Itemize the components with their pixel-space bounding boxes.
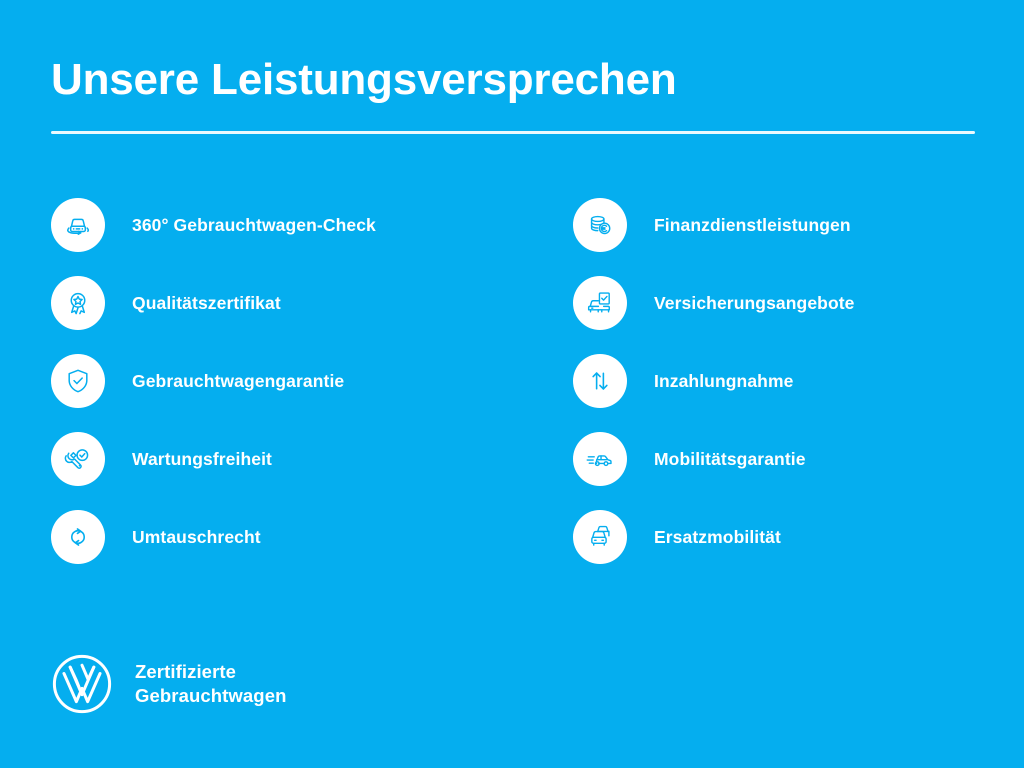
- benefit-label: Gebrauchtwagengarantie: [132, 370, 344, 392]
- benefit-item-quality-certificate[interactable]: Qualitätszertifikat: [51, 276, 521, 330]
- benefit-label: Finanzdienstleistungen: [654, 214, 851, 236]
- header: Unsere Leistungsversprechen: [51, 52, 981, 108]
- benefit-item-maintenance-free[interactable]: Wartungsfreiheit: [51, 432, 521, 486]
- benefit-item-financial-services[interactable]: Finanzdienstleistungen: [573, 198, 1003, 252]
- page-title: Unsere Leistungsversprechen: [51, 52, 981, 108]
- volkswagen-logo: [51, 653, 113, 715]
- benefit-item-insurance[interactable]: Versicherungsangebote: [573, 276, 1003, 330]
- benefit-label: Versicherungsangebote: [654, 292, 855, 314]
- brand-text-line2: Gebrauchtwagen: [135, 684, 287, 708]
- shield-check-icon: [51, 354, 105, 408]
- brand-lockup: Zertifizierte Gebrauchtwagen: [51, 653, 287, 715]
- coins-euro-icon: [573, 198, 627, 252]
- award-rosette-icon: [51, 276, 105, 330]
- benefit-item-replacement-mobility[interactable]: Ersatzmobilität: [573, 510, 1003, 564]
- title-divider: [51, 131, 975, 134]
- brand-text-line1: Zertifizierte: [135, 660, 287, 684]
- brand-text: Zertifizierte Gebrauchtwagen: [135, 660, 287, 708]
- benefit-label: Wartungsfreiheit: [132, 448, 272, 470]
- benefits-left-column: 360° Gebrauchtwagen-Check Qualitätszerti…: [51, 198, 521, 588]
- wrench-check-icon: [51, 432, 105, 486]
- car-document-check-icon: [573, 276, 627, 330]
- benefit-item-exchange-right[interactable]: Umtauschrecht: [51, 510, 521, 564]
- car-speed-icon: [573, 432, 627, 486]
- benefit-label: Ersatzmobilität: [654, 526, 781, 548]
- benefit-item-trade-in[interactable]: Inzahlungnahme: [573, 354, 1003, 408]
- up-down-arrows-icon: [573, 354, 627, 408]
- benefit-label: Inzahlungnahme: [654, 370, 793, 392]
- benefit-item-mobility-guarantee[interactable]: Mobilitätsgarantie: [573, 432, 1003, 486]
- benefit-label: 360° Gebrauchtwagen-Check: [132, 214, 376, 236]
- car-360-check-icon: [51, 198, 105, 252]
- benefit-item-warranty[interactable]: Gebrauchtwagengarantie: [51, 354, 521, 408]
- benefits-right-column: Finanzdienstleistungen: [573, 198, 1003, 588]
- two-cars-icon: [573, 510, 627, 564]
- benefit-label: Mobilitätsgarantie: [654, 448, 806, 470]
- benefit-label: Umtauschrecht: [132, 526, 261, 548]
- benefit-label: Qualitätszertifikat: [132, 292, 281, 314]
- benefits-grid: 360° Gebrauchtwagen-Check Qualitätszerti…: [0, 198, 1024, 588]
- promise-slide: Unsere Leistungsversprechen: [0, 0, 1024, 768]
- exchange-arrows-icon: [51, 510, 105, 564]
- benefit-item-360-check[interactable]: 360° Gebrauchtwagen-Check: [51, 198, 521, 252]
